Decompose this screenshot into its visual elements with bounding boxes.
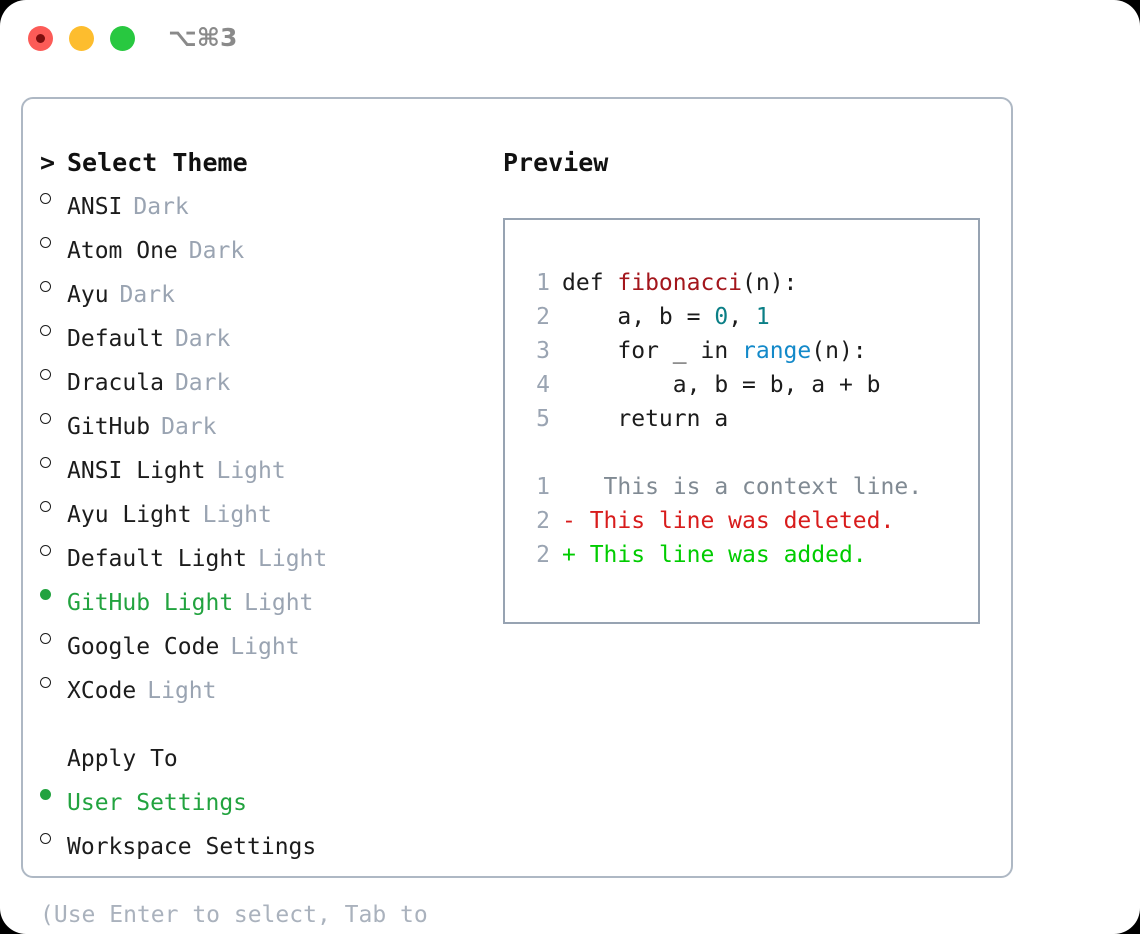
theme-option-label: Ayu bbox=[67, 278, 109, 312]
code-line-number: 4 bbox=[522, 368, 562, 402]
list-spacer bbox=[40, 708, 493, 742]
preview-heading: Preview bbox=[503, 146, 1011, 180]
preview-box: 1def fibonacci(n):2 a, b = 0, 13 for _ i… bbox=[503, 218, 980, 624]
code-sample-block: 1def fibonacci(n):2 a, b = 0, 13 for _ i… bbox=[522, 266, 978, 436]
diff-marker: + bbox=[562, 538, 576, 572]
theme-option-github[interactable]: GitHubDark bbox=[40, 400, 493, 444]
code-diff-spacer bbox=[522, 436, 978, 470]
app-window: ⌥⌘3 > Select Theme ANSIDarkAtom OneDarkA… bbox=[0, 0, 1140, 934]
preview-column: Preview 1def fibonacci(n):2 a, b = 0, 13… bbox=[493, 99, 1011, 876]
apply-to-option-workspace-settings[interactable]: Workspace Settings bbox=[40, 820, 493, 864]
code-line-number: 2 bbox=[522, 300, 562, 334]
theme-option-label: Ayu Light bbox=[67, 498, 192, 532]
close-button[interactable] bbox=[28, 26, 53, 51]
diff-line-context: 1 This is a context line. bbox=[522, 470, 978, 504]
theme-option-label: XCode bbox=[67, 674, 136, 708]
code-token-number: 0 bbox=[714, 300, 728, 334]
theme-option-variant: Light bbox=[192, 498, 272, 532]
theme-option-variant: Light bbox=[247, 542, 327, 576]
diff-line-text: This line was added. bbox=[576, 538, 867, 572]
code-token-builtin: range bbox=[742, 334, 811, 368]
code-token-plain: a, b = bbox=[562, 300, 714, 334]
zoom-button[interactable] bbox=[110, 26, 135, 51]
keyboard-shortcut-label: ⌥⌘3 bbox=[168, 23, 237, 52]
theme-option-atom-one[interactable]: Atom OneDark bbox=[40, 224, 493, 268]
code-line: 1def fibonacci(n): bbox=[522, 266, 978, 300]
radio-unselected-icon bbox=[40, 532, 67, 566]
diff-line-number: 1 bbox=[522, 470, 562, 504]
apply-to-option-user-settings[interactable]: User Settings bbox=[40, 776, 493, 820]
radio-unselected-icon bbox=[40, 664, 67, 698]
select-theme-heading: > Select Theme bbox=[40, 146, 493, 180]
theme-option-github-light[interactable]: GitHub LightLight bbox=[40, 576, 493, 620]
diff-marker: - bbox=[562, 504, 576, 538]
radio-unselected-icon bbox=[40, 312, 67, 346]
theme-option-label: GitHub Light bbox=[67, 586, 233, 620]
radio-unselected-icon bbox=[40, 356, 67, 390]
radio-unselected-icon bbox=[40, 488, 67, 522]
radio-selected-icon bbox=[40, 776, 67, 810]
theme-option-variant: Dark bbox=[150, 410, 216, 444]
diff-line-deleted: 2- This line was deleted. bbox=[522, 504, 978, 538]
main-panel: > Select Theme ANSIDarkAtom OneDarkAyuDa… bbox=[21, 97, 1013, 878]
code-token-function: fibonacci bbox=[617, 266, 742, 300]
theme-option-variant: Dark bbox=[178, 234, 244, 268]
radio-unselected-icon bbox=[40, 820, 67, 854]
caret-icon: > bbox=[40, 146, 67, 180]
theme-selection-column: > Select Theme ANSIDarkAtom OneDarkAyuDa… bbox=[23, 99, 493, 876]
code-token-plain: a, b = b, a + b bbox=[562, 368, 881, 402]
apply-to-heading: Apply To bbox=[40, 742, 493, 776]
theme-option-label: GitHub bbox=[67, 410, 150, 444]
code-line: 4 a, b = b, a + b bbox=[522, 368, 978, 402]
code-token-plain: , bbox=[728, 300, 756, 334]
theme-option-label: Google Code bbox=[67, 630, 219, 664]
theme-option-label: Default Light bbox=[67, 542, 247, 576]
diff-line-number: 2 bbox=[522, 538, 562, 572]
theme-option-variant: Dark bbox=[109, 278, 175, 312]
theme-option-ansi[interactable]: ANSIDark bbox=[40, 180, 493, 224]
radio-unselected-icon bbox=[40, 268, 67, 302]
theme-option-variant: Light bbox=[205, 454, 285, 488]
theme-option-label: ANSI bbox=[67, 190, 122, 224]
code-line: 2 a, b = 0, 1 bbox=[522, 300, 978, 334]
apply-to-options-list: User SettingsWorkspace Settings bbox=[40, 776, 493, 864]
theme-option-label: ANSI Light bbox=[67, 454, 205, 488]
radio-unselected-icon bbox=[40, 400, 67, 434]
traffic-light-controls bbox=[28, 26, 135, 51]
code-token-plain: def bbox=[562, 266, 617, 300]
hint-spacer bbox=[40, 864, 493, 898]
code-line: 5 return a bbox=[522, 402, 978, 436]
code-token-plain: (n): bbox=[742, 266, 797, 300]
theme-option-default[interactable]: DefaultDark bbox=[40, 312, 493, 356]
theme-option-label: Dracula bbox=[67, 366, 164, 400]
diff-line-text: This is a context line. bbox=[576, 470, 922, 504]
keyboard-hint-text: (Use Enter to select, Tab to change focu… bbox=[40, 898, 450, 934]
theme-option-variant: Dark bbox=[164, 366, 230, 400]
code-line-number: 5 bbox=[522, 402, 562, 436]
code-line-number: 1 bbox=[522, 266, 562, 300]
radio-unselected-icon bbox=[40, 224, 67, 258]
code-token-plain: return a bbox=[562, 402, 728, 436]
window-titlebar: ⌥⌘3 bbox=[0, 0, 1140, 78]
radio-unselected-icon bbox=[40, 620, 67, 654]
theme-option-ayu[interactable]: AyuDark bbox=[40, 268, 493, 312]
radio-unselected-icon bbox=[40, 444, 67, 478]
theme-options-list: ANSIDarkAtom OneDarkAyuDarkDefaultDarkDr… bbox=[40, 180, 493, 708]
theme-option-google-code[interactable]: Google CodeLight bbox=[40, 620, 493, 664]
theme-option-variant: Light bbox=[136, 674, 216, 708]
select-theme-heading-label: Select Theme bbox=[67, 146, 248, 180]
theme-option-variant: Light bbox=[233, 586, 313, 620]
theme-option-xcode[interactable]: XCodeLight bbox=[40, 664, 493, 708]
minimize-button[interactable] bbox=[69, 26, 94, 51]
theme-option-default-light[interactable]: Default LightLight bbox=[40, 532, 493, 576]
theme-option-dracula[interactable]: DraculaDark bbox=[40, 356, 493, 400]
diff-line-number: 2 bbox=[522, 504, 562, 538]
code-line: 3 for _ in range(n): bbox=[522, 334, 978, 368]
theme-option-label: Default bbox=[67, 322, 164, 356]
code-token-number: 1 bbox=[756, 300, 770, 334]
code-token-plain: for _ in bbox=[562, 334, 742, 368]
theme-option-label: Atom One bbox=[67, 234, 178, 268]
code-line-number: 3 bbox=[522, 334, 562, 368]
code-token-plain: (n): bbox=[811, 334, 866, 368]
panel-body: > Select Theme ANSIDarkAtom OneDarkAyuDa… bbox=[23, 99, 1011, 876]
diff-line-added: 2+ This line was added. bbox=[522, 538, 978, 572]
theme-option-variant: Light bbox=[219, 630, 299, 664]
theme-option-variant: Dark bbox=[122, 190, 188, 224]
diff-sample-block: 1 This is a context line.2- This line wa… bbox=[522, 470, 978, 572]
diff-line-text: This line was deleted. bbox=[576, 504, 895, 538]
theme-option-variant: Dark bbox=[164, 322, 230, 356]
radio-unselected-icon bbox=[40, 180, 67, 214]
theme-option-ansi-light[interactable]: ANSI LightLight bbox=[40, 444, 493, 488]
apply-to-option-label: Workspace Settings bbox=[67, 830, 316, 864]
radio-selected-icon bbox=[40, 576, 67, 610]
theme-option-ayu-light[interactable]: Ayu LightLight bbox=[40, 488, 493, 532]
diff-marker bbox=[562, 470, 576, 504]
apply-to-option-label: User Settings bbox=[67, 786, 247, 820]
